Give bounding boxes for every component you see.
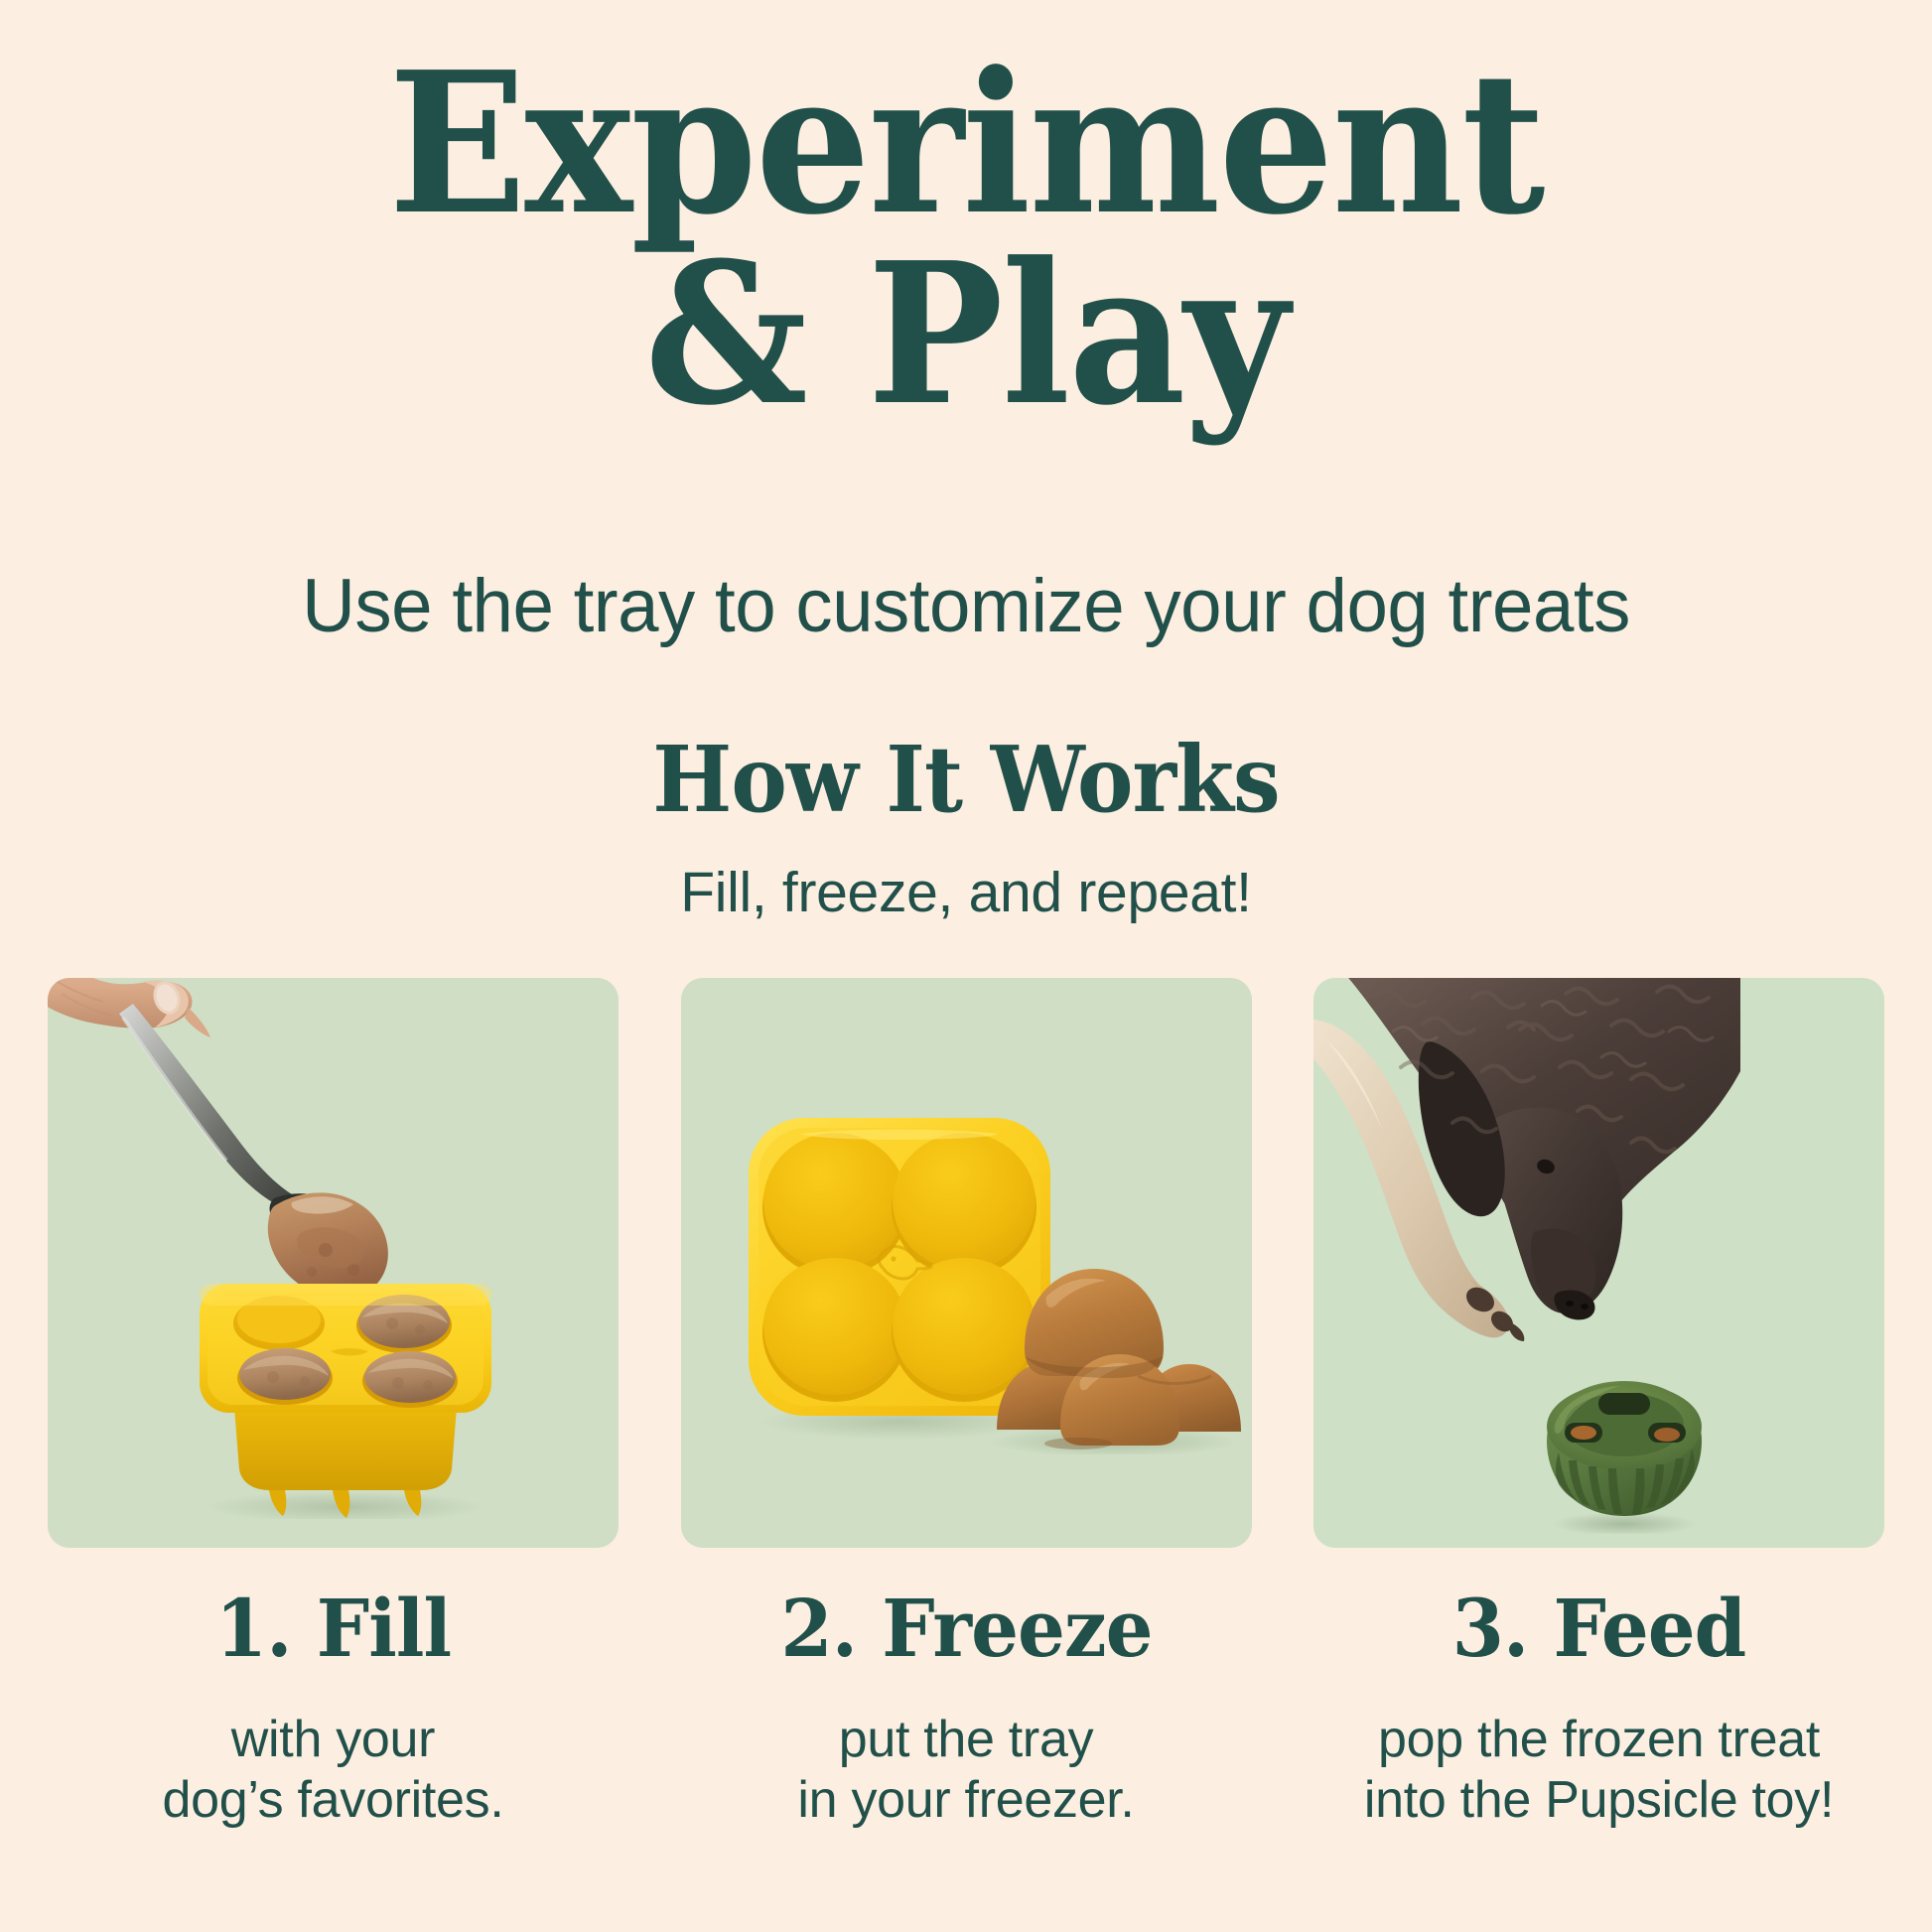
step-desc-1: with your dog’s favorites.: [48, 1710, 619, 1832]
steps-caption-row: 1. Fill with your dog’s favorites. 2. Fr…: [48, 1588, 1884, 1832]
step-caption-freeze: 2. Freeze put the tray in your freezer.: [681, 1588, 1252, 1832]
page-subtitle: Use the tray to customize your dog treat…: [19, 563, 1912, 649]
step-title-3: 3. Feed: [1330, 1588, 1867, 1668]
step-desc-1-line1: with your: [48, 1710, 619, 1770]
step-desc-2: put the tray in your freezer.: [681, 1710, 1252, 1832]
yellow-treat-tray-filled-icon: [182, 1266, 509, 1519]
dog-icon: [1313, 978, 1740, 1439]
step-title-1: 1. Fill: [65, 1588, 602, 1668]
page-title-line1: Experiment: [68, 52, 1864, 236]
page-title-line2: & Play: [68, 242, 1864, 427]
step-image-card-feed: [1313, 978, 1884, 1548]
section-title-how-it-works: How It Works: [77, 726, 1855, 833]
green-pupsicle-toy-icon: [1537, 1375, 1711, 1534]
step-image-card-freeze: [681, 978, 1252, 1548]
step-desc-2-line1: put the tray: [681, 1710, 1252, 1770]
section-subtitle: Fill, freeze, and repeat!: [0, 860, 1932, 925]
step-caption-feed: 3. Feed pop the frozen treat into the Pu…: [1313, 1588, 1884, 1832]
frozen-treat-domes-icon: [979, 1231, 1242, 1454]
step-desc-2-line2: in your freezer.: [681, 1770, 1252, 1831]
promo-page: Experiment & Play Use the tray to custom…: [0, 0, 1932, 1932]
step-desc-3-line1: pop the frozen treat: [1313, 1710, 1884, 1770]
page-title: Experiment & Play: [68, 52, 1864, 427]
step-title-2: 2. Freeze: [698, 1588, 1235, 1668]
step-image-card-fill: [48, 978, 619, 1548]
step-desc-3: pop the frozen treat into the Pupsicle t…: [1313, 1710, 1884, 1832]
step-desc-3-line2: into the Pupsicle toy!: [1313, 1770, 1884, 1831]
step-caption-fill: 1. Fill with your dog’s favorites.: [48, 1588, 619, 1832]
steps-image-row: [48, 978, 1884, 1548]
step-desc-1-line2: dog’s favorites.: [48, 1770, 619, 1831]
